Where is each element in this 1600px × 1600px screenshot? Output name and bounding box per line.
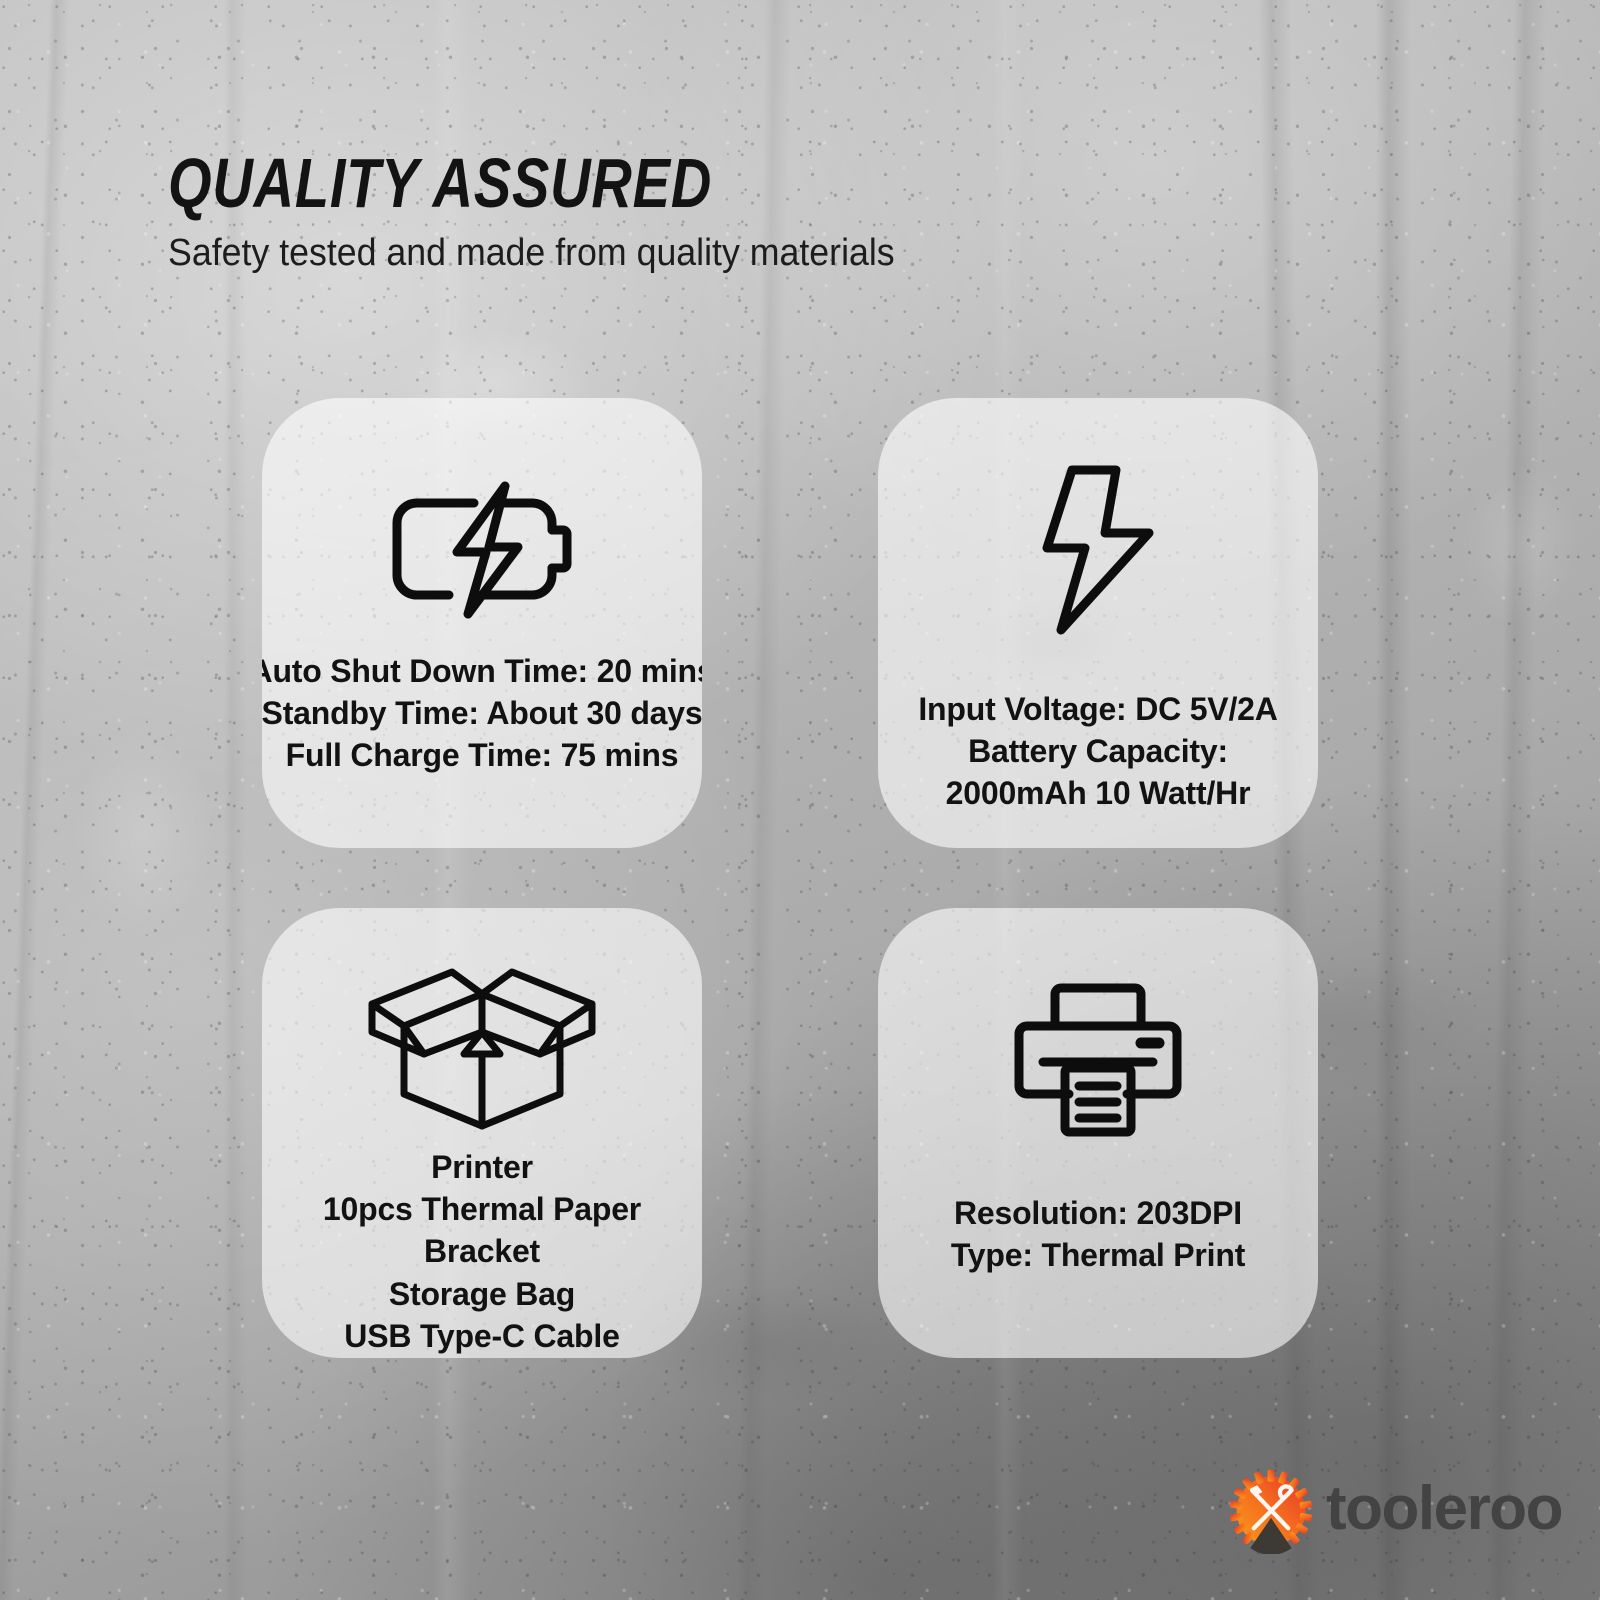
card-text-box-contents: Printer 10pcs Thermal Paper Bracket Stor… (309, 1146, 655, 1357)
battery-charging-icon (382, 474, 582, 624)
printer-icon (1007, 980, 1189, 1140)
card-text-printer: Resolution: 203DPI Type: Thermal Print (937, 1192, 1259, 1276)
card-line: Type: Thermal Print (951, 1234, 1245, 1276)
card-line: Input Voltage: DC 5V/2A (918, 688, 1277, 730)
feature-card-battery: Auto Shut Down Time: 20 mins Standby Tim… (262, 398, 702, 848)
feature-card-power: Input Voltage: DC 5V/2A Battery Capacity… (878, 398, 1318, 848)
lightning-bolt-icon (1033, 460, 1163, 640)
feature-card-printer: Resolution: 203DPI Type: Thermal Print (878, 908, 1318, 1358)
page-subtitle: Safety tested and made from quality mate… (168, 232, 1108, 276)
logo-wordmark: tooleroo (1326, 1478, 1562, 1540)
card-line: 10pcs Thermal Paper (323, 1188, 641, 1230)
page-title: QUALITY ASSURED (168, 148, 968, 218)
open-box-icon (364, 954, 600, 1130)
card-text-battery: Auto Shut Down Time: 20 mins Standby Tim… (262, 650, 702, 777)
card-line: Bracket (323, 1230, 641, 1272)
feature-card-grid: Auto Shut Down Time: 20 mins Standby Tim… (262, 398, 1318, 1358)
card-line: Standby Time: About 30 days (262, 692, 702, 734)
card-line: Auto Shut Down Time: 20 mins (262, 650, 702, 692)
infographic-page: QUALITY ASSURED Safety tested and made f… (0, 0, 1600, 1600)
card-line: 2000mAh 10 Watt/Hr (918, 772, 1277, 814)
card-line: Printer (323, 1146, 641, 1188)
header-block: QUALITY ASSURED Safety tested and made f… (168, 148, 1168, 276)
card-line: USB Type-C Cable (323, 1315, 641, 1357)
brand-logo: tooleroo (1228, 1468, 1562, 1554)
feature-card-box-contents: Printer 10pcs Thermal Paper Bracket Stor… (262, 908, 702, 1358)
card-line: Resolution: 203DPI (951, 1192, 1245, 1234)
card-line: Storage Bag (323, 1273, 641, 1315)
gear-tools-logo-icon (1228, 1468, 1314, 1554)
card-line: Full Charge Time: 75 mins (262, 734, 702, 776)
card-line: Battery Capacity: (918, 730, 1277, 772)
card-text-power: Input Voltage: DC 5V/2A Battery Capacity… (904, 688, 1291, 815)
